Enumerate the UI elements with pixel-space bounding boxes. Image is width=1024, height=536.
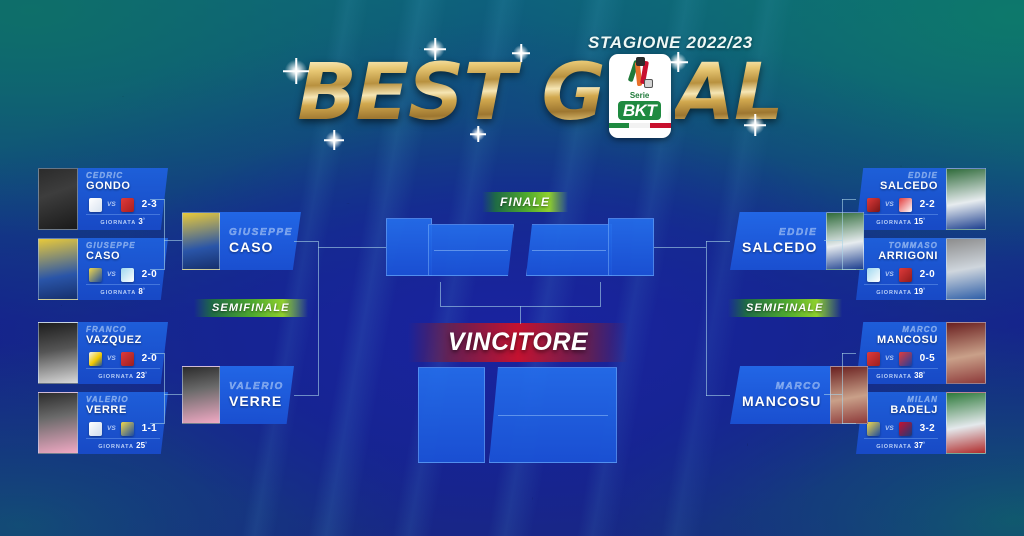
quarterfinal-card-right-4[interactable]: MILAN BADELJ VS 3-2 GIORNATA 37ª: [856, 392, 986, 454]
match-row: VS 2-0: [78, 265, 168, 284]
quarterfinal-card-right-1[interactable]: EDDIE SALCEDO VS 2-2 GIORNATA 15ª: [856, 168, 986, 230]
player-photo: [38, 238, 78, 300]
bracket-connector: [150, 269, 164, 270]
match-row: VS 2-0: [78, 349, 168, 368]
matchday-row: GIORNATA 19ª: [864, 284, 938, 296]
player-first-name: FRANCO: [86, 325, 161, 334]
serie-b-ribbon-icon: [625, 60, 655, 90]
home-team-crest-icon: [867, 352, 880, 366]
match-row: VS 2-2: [856, 195, 946, 214]
player-photo: [830, 366, 868, 424]
quarterfinal-card-left-1[interactable]: CEDRIC GONDO VS 2-3 GIORNATA 3ª: [38, 168, 168, 230]
matchday-row: GIORNATA 38ª: [864, 368, 938, 380]
bracket-connector: [164, 199, 165, 270]
matchday-number: 37: [914, 441, 923, 450]
away-team-crest-icon: [899, 198, 912, 212]
player-last-name: MANCOSU: [742, 393, 821, 410]
bracket-connector: [164, 394, 182, 395]
bracket-connector: [150, 353, 164, 354]
matchday-label: GIORNATA: [98, 374, 134, 380]
player-photo: [946, 238, 986, 300]
matchday-label: GIORNATA: [876, 220, 912, 226]
match-score: 2-3: [142, 199, 157, 210]
match-score: 2-2: [920, 199, 935, 210]
winner-slot-left[interactable]: [418, 367, 485, 463]
player-photo: [182, 212, 220, 270]
semifinal-card-left-1[interactable]: GIUSEPPE CASO: [182, 212, 294, 270]
matchday-row: GIORNATA 3ª: [86, 214, 160, 226]
matchday-suffix: ª: [143, 287, 146, 293]
player-photo: [38, 392, 78, 454]
player-last-name: BADELJ: [868, 404, 938, 416]
logo-serie-text: Serie: [630, 91, 650, 100]
vs-label: VS: [107, 425, 116, 432]
matchday-number: 25: [136, 441, 145, 450]
bracket-connector: [440, 282, 441, 306]
player-photo: [826, 212, 864, 270]
best-goal-bracket-graphic: STAGIONE 2022/23 BEST G Serie BKT AL FIN…: [0, 0, 1024, 536]
bracket-connector: [842, 199, 856, 200]
matchday-label: GIORNATA: [100, 290, 136, 296]
home-team-crest-icon: [89, 422, 102, 436]
player-last-name: MANCOSU: [868, 334, 938, 346]
vs-label: VS: [885, 425, 894, 432]
player-first-name: VALERIO: [86, 395, 161, 404]
logo-bkt-text: BKT: [618, 101, 661, 120]
away-team-crest-icon: [121, 268, 134, 282]
player-first-name: MARCO: [742, 380, 821, 393]
page-title: BEST G Serie BKT AL: [290, 48, 790, 140]
matchday-row: GIORNATA 23ª: [86, 368, 160, 380]
bracket-connector: [294, 241, 318, 242]
match-row: VS 2-3: [78, 195, 168, 214]
player-first-name: GIUSEPPE: [229, 226, 293, 239]
bracket-connector: [824, 240, 842, 241]
matchday-label: GIORNATA: [876, 290, 912, 296]
vs-label: VS: [885, 355, 894, 362]
matchday-label: GIORNATA: [100, 220, 136, 226]
away-team-crest-icon: [899, 268, 912, 282]
quarterfinal-card-left-4[interactable]: VALERIO VERRE VS 1-1 GIORNATA 25ª: [38, 392, 168, 454]
bracket-connector: [520, 306, 521, 324]
matchday-suffix: ª: [145, 441, 148, 447]
player-photo: [946, 168, 986, 230]
matchday-suffix: ª: [923, 441, 926, 447]
match-score: 0-5: [920, 353, 935, 364]
vs-label: VS: [885, 201, 894, 208]
player-last-name: CASO: [229, 239, 293, 256]
label-semifinale-right: SEMIFINALE: [728, 299, 842, 317]
away-team-crest-icon: [121, 198, 134, 212]
away-team-crest-icon: [121, 352, 134, 366]
matchday-label: GIORNATA: [876, 374, 912, 380]
bracket-connector: [842, 199, 843, 270]
matchday-suffix: ª: [923, 371, 926, 377]
matchday-label: GIORNATA: [98, 444, 134, 450]
player-first-name: GIUSEPPE: [86, 241, 161, 250]
bracket-connector: [654, 247, 706, 248]
player-last-name: GONDO: [86, 180, 161, 192]
match-score: 2-0: [920, 269, 935, 280]
match-row: VS 0-5: [856, 349, 946, 368]
matchday-suffix: ª: [923, 287, 926, 293]
home-team-crest-icon: [89, 198, 102, 212]
matchday-suffix: ª: [923, 217, 926, 223]
player-first-name: CEDRIC: [86, 171, 161, 180]
matchday-row: GIORNATA 25ª: [86, 438, 160, 450]
bracket-connector: [318, 241, 319, 396]
bracket-connector: [842, 353, 856, 354]
final-slot-left-inner[interactable]: [428, 224, 514, 276]
match-row: VS 3-2: [856, 419, 946, 438]
slot-divider: [498, 415, 609, 416]
bracket-connector: [600, 282, 601, 306]
bracket-connector: [842, 353, 843, 424]
home-team-crest-icon: [867, 198, 880, 212]
matchday-number: 38: [914, 371, 923, 380]
player-first-name: EDDIE: [868, 171, 938, 180]
player-photo: [38, 322, 78, 384]
home-team-crest-icon: [89, 352, 102, 366]
semifinal-card-left-2[interactable]: VALERIO VERRE: [182, 366, 294, 424]
slot-divider: [532, 250, 606, 251]
quarterfinal-card-right-2[interactable]: TOMMASO ARRIGONI VS 2-0 GIORNATA 19ª: [856, 238, 986, 300]
player-photo: [946, 322, 986, 384]
player-last-name: SALCEDO: [742, 239, 817, 256]
player-last-name: VERRE: [229, 393, 286, 410]
final-slot-right-outer[interactable]: [608, 218, 654, 276]
vs-label: VS: [107, 271, 116, 278]
matchday-row: GIORNATA 8ª: [86, 284, 160, 296]
matchday-number: 19: [914, 287, 923, 296]
matchday-number: 23: [136, 371, 145, 380]
player-last-name: SALCEDO: [868, 180, 938, 192]
match-row: VS 1-1: [78, 419, 168, 438]
final-slot-left-outer[interactable]: [386, 218, 432, 276]
bracket-connector: [706, 395, 730, 396]
player-last-name: VERRE: [86, 404, 161, 416]
match-score: 2-0: [142, 353, 157, 364]
vs-label: VS: [107, 201, 116, 208]
matchday-label: GIORNATA: [876, 444, 912, 450]
away-team-crest-icon: [121, 422, 134, 436]
bracket-connector: [842, 269, 856, 270]
bracket-connector: [824, 394, 842, 395]
player-photo: [946, 392, 986, 454]
player-photo: [38, 168, 78, 230]
title-text-best-g: BEST G: [297, 58, 604, 130]
slot-divider: [434, 250, 508, 251]
vs-label: VS: [107, 355, 116, 362]
match-row: VS 2-0: [856, 265, 946, 284]
quarterfinal-card-left-2[interactable]: GIUSEPPE CASO VS 2-0 GIORNATA 8ª: [38, 238, 168, 300]
matchday-row: GIORNATA 15ª: [864, 214, 938, 226]
away-team-crest-icon: [899, 352, 912, 366]
home-team-crest-icon: [867, 422, 880, 436]
bracket-connector: [706, 241, 730, 242]
serie-bkt-logo: Serie BKT: [609, 54, 671, 138]
semifinal-card-right-2[interactable]: MARCO MANCOSU: [730, 366, 842, 424]
label-vincitore: VINCITORE: [408, 323, 628, 362]
bracket-connector: [706, 241, 707, 396]
match-score: 3-2: [920, 423, 935, 434]
match-score: 2-0: [142, 269, 157, 280]
player-last-name: CASO: [86, 250, 161, 262]
home-team-crest-icon: [867, 268, 880, 282]
bracket-connector: [842, 423, 856, 424]
bracket-connector: [318, 247, 386, 248]
bracket-connector: [164, 240, 182, 241]
player-first-name: TOMMASO: [868, 241, 938, 250]
winner-slot-right[interactable]: [489, 367, 617, 463]
player-photo: [182, 366, 220, 424]
player-first-name: VALERIO: [229, 380, 286, 393]
bracket-connector: [294, 395, 318, 396]
vs-label: VS: [885, 271, 894, 278]
player-last-name: ARRIGONI: [868, 250, 938, 262]
label-semifinale-left: SEMIFINALE: [194, 299, 308, 317]
matchday-suffix: ª: [145, 371, 148, 377]
home-team-crest-icon: [89, 268, 102, 282]
bracket-connector: [164, 353, 165, 424]
player-first-name: MARCO: [868, 325, 938, 334]
match-score: 1-1: [142, 423, 157, 434]
player-first-name: MILAN: [868, 395, 938, 404]
matchday-number: 15: [914, 217, 923, 226]
matchday-row: GIORNATA 37ª: [864, 438, 938, 450]
bracket-connector: [150, 423, 164, 424]
label-finale: FINALE: [482, 192, 568, 212]
quarterfinal-card-right-3[interactable]: MARCO MANCOSU VS 0-5 GIORNATA 38ª: [856, 322, 986, 384]
away-team-crest-icon: [899, 422, 912, 436]
quarterfinal-card-left-3[interactable]: FRANCO VAZQUEZ VS 2-0 GIORNATA 23ª: [38, 322, 168, 384]
bracket-connector: [150, 199, 164, 200]
matchday-suffix: ª: [143, 217, 146, 223]
semifinal-card-right-1[interactable]: EDDIE SALCEDO: [730, 212, 842, 270]
player-first-name: EDDIE: [742, 226, 817, 239]
player-last-name: VAZQUEZ: [86, 334, 161, 346]
title-text-al: AL: [675, 58, 783, 130]
final-slot-right-inner[interactable]: [526, 224, 612, 276]
italian-flag-stripe-icon: [609, 123, 671, 128]
